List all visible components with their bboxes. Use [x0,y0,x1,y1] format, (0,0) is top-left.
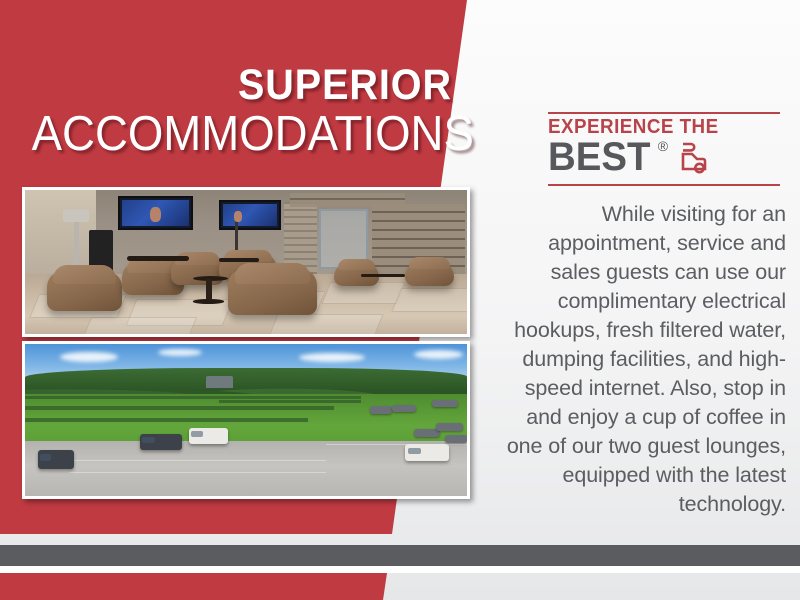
body-copy: While visiting for an appointment, servi… [494,200,786,519]
footer-white-gap [0,566,800,573]
page-title: SUPERIOR ACCOMMODATIONS [0,62,452,160]
registered-trademark-icon: ® [658,137,668,155]
parked-car [370,406,392,414]
rv-lot-photo [22,341,470,499]
parked-motorhome [189,428,229,445]
television-left-icon [118,196,193,231]
rv-lot-photo-art [25,344,467,496]
logo-wordmark: BEST [548,137,650,177]
headline-line-1: SUPERIOR [36,62,452,108]
parked-car [392,405,416,413]
lounge-chair [47,271,122,311]
angled-red-panel-footer [0,573,480,600]
lounge-chair [228,269,316,315]
guest-lounge-photo-art [25,190,467,334]
parked-car [432,400,459,407]
lounge-chair [405,261,454,287]
footer-gray-bar [0,545,800,566]
rv-motorhome-icon [674,141,708,180]
logo-rule-bottom [548,184,780,186]
television-right-icon [219,200,281,230]
parked-car [436,423,463,431]
parked-car [445,435,467,443]
parked-motorhome [405,444,449,461]
parked-vehicle [38,450,73,468]
headline-line-2: ACCOMMODATIONS [32,108,452,160]
experience-the-best-logo: EXPERIENCE THE BEST ® [548,112,780,186]
logo-rule-top [548,112,780,114]
logo-wordmark-row: BEST ® [548,137,780,180]
parked-motorhome [140,434,182,451]
poster-canvas: SUPERIOR ACCOMMODATIONS [0,0,800,600]
guest-lounge-photo [22,187,470,337]
